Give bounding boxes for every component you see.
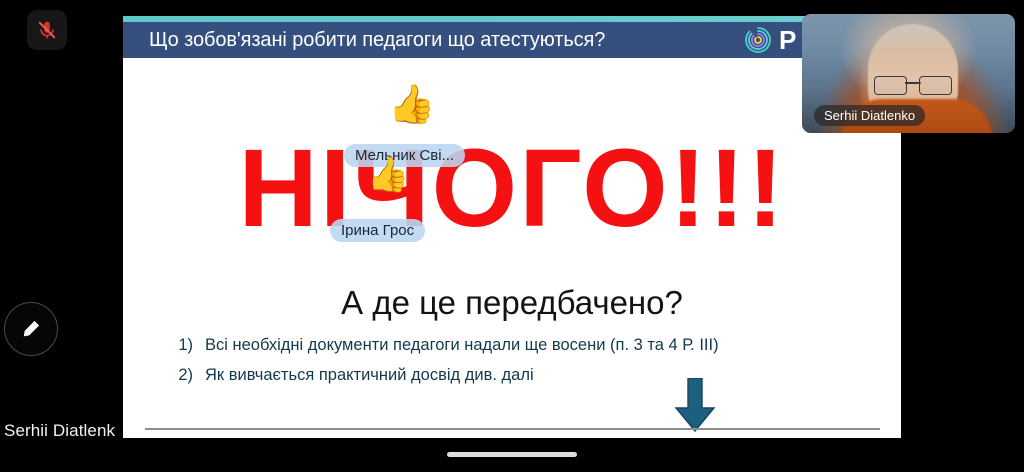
self-participant-name: Serhii Diatlenk — [4, 421, 115, 441]
bullet-text: Всі необхідні документи педагоги надали … — [205, 336, 719, 355]
thumbs-up-reaction: 👍 — [388, 86, 435, 124]
spiral-logo-icon — [743, 25, 773, 55]
bullet-text: Як вивчається практичний досвід див. дал… — [205, 366, 534, 385]
annotate-pencil-button[interactable] — [4, 302, 58, 356]
list-item: 1) Всі необхідні документи педагоги нада… — [157, 336, 877, 355]
home-indicator — [447, 452, 577, 457]
pip-video-tile[interactable]: Serhii Diatlenko — [802, 14, 1015, 133]
shared-slide[interactable]: Що зобов'язані робити педагоги що атесту… — [123, 16, 901, 438]
list-item: 2) Як вивчається практичний досвід див. … — [157, 366, 877, 385]
bullet-number: 2) — [157, 366, 205, 385]
pip-participant-name: Serhii Diatlenko — [814, 105, 925, 126]
annotation-name-pill: Ірина Грос — [330, 219, 425, 242]
footer-divider — [145, 428, 880, 430]
brand-logo: P — [743, 22, 796, 58]
thumbs-up-reaction: 👍 — [367, 158, 409, 192]
bullet-number: 1) — [157, 336, 205, 355]
pencil-icon — [19, 317, 43, 341]
footer-logos: Sweden Sverige Swedish Association of Lo… — [623, 434, 883, 438]
slide-subheading: А де це передбачено? — [123, 284, 901, 322]
slide-title: Що зобов'язані робити педагоги що атесту… — [149, 29, 605, 52]
microphone-muted-icon[interactable] — [27, 10, 67, 50]
slide-headline: НІЧОГО!!! — [123, 134, 901, 244]
glasses — [874, 76, 952, 94]
zoom-meeting-screen: Serhii Diatlenk Що зобов'язані робити пе… — [0, 0, 1024, 472]
slide-bullet-list: 1) Всі необхідні документи педагоги нада… — [157, 336, 877, 396]
brand-letter: P — [779, 25, 796, 56]
